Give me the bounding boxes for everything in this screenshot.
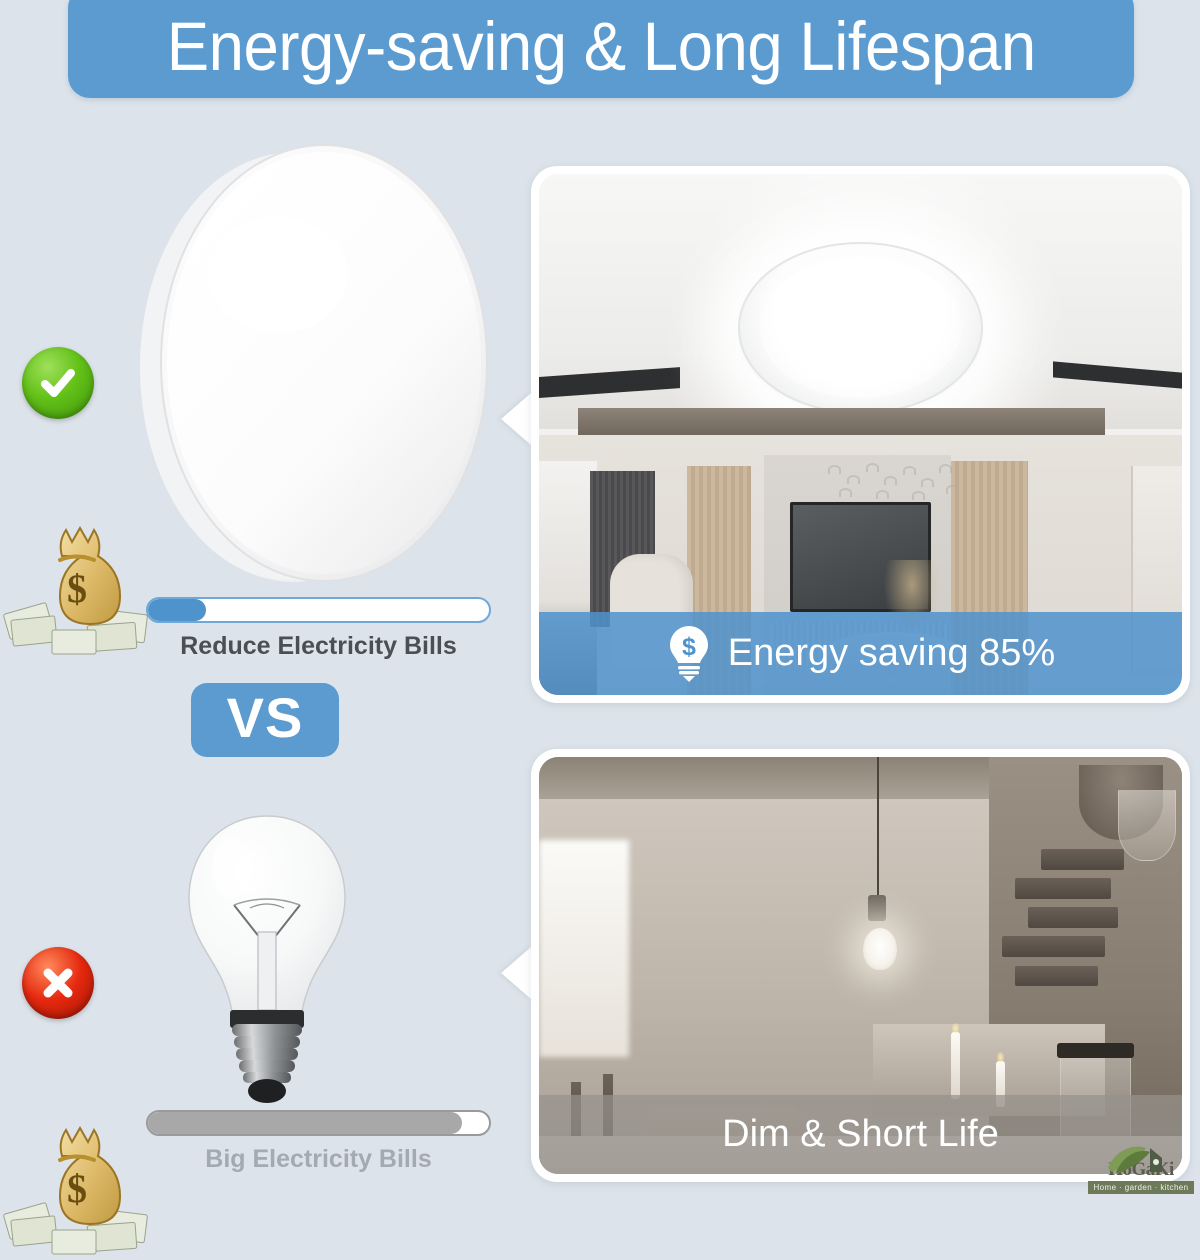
dim-short-life-caption: Dim & Short Life bbox=[722, 1113, 999, 1156]
svg-text:$: $ bbox=[67, 566, 87, 611]
energy-saving-caption: Energy saving 85% bbox=[728, 632, 1055, 675]
header-banner: Energy-saving & Long Lifespan bbox=[68, 0, 1134, 98]
page-title: Energy-saving & Long Lifespan bbox=[167, 0, 1036, 86]
led-light-in-room bbox=[738, 242, 982, 414]
vs-badge: VS bbox=[191, 683, 339, 757]
bulb-dollar-icon: $ bbox=[666, 624, 712, 682]
comparison-left-column: $ $ bbox=[0, 110, 520, 1200]
meter-fill bbox=[148, 1112, 462, 1134]
meter-track bbox=[146, 1110, 491, 1136]
meter-track bbox=[146, 597, 491, 623]
led-ceiling-light bbox=[128, 135, 500, 595]
meter-label: Reduce Electricity Bills bbox=[146, 632, 491, 661]
leaf-house-icon bbox=[1106, 1142, 1164, 1176]
photo-card-energy-saving: $ Energy saving 85% bbox=[531, 166, 1190, 703]
photo-card-dim-short-life: Dim & Short Life bbox=[531, 749, 1190, 1182]
incandescent-bulb bbox=[172, 810, 362, 1115]
callout-pointer bbox=[501, 393, 531, 445]
money-bag-icon: $ bbox=[2, 1120, 152, 1255]
reduce-bills-meter: Reduce Electricity Bills bbox=[146, 597, 491, 661]
big-bills-meter: Big Electricity Bills bbox=[146, 1110, 491, 1174]
svg-text:$: $ bbox=[67, 1166, 87, 1211]
dim-short-life-caption-band: Dim & Short Life bbox=[539, 1095, 1182, 1174]
svg-text:$: $ bbox=[682, 633, 696, 661]
callout-pointer bbox=[501, 947, 531, 999]
vs-label: VS bbox=[227, 690, 304, 750]
brand-tagline: Home · garden · kitchen bbox=[1088, 1181, 1194, 1194]
meter-fill bbox=[148, 599, 206, 621]
hanging-incandescent-bulb bbox=[863, 928, 897, 970]
brand-watermark: HoGaKi Home · garden · kitchen bbox=[1088, 1160, 1194, 1194]
meter-label: Big Electricity Bills bbox=[146, 1145, 491, 1174]
green-check-icon bbox=[22, 347, 94, 419]
red-x-icon bbox=[22, 947, 94, 1019]
energy-saving-caption-band: $ Energy saving 85% bbox=[539, 612, 1182, 695]
dim-room-photo: Dim & Short Life bbox=[539, 757, 1182, 1174]
wall-art-birds bbox=[822, 461, 963, 508]
bright-living-room-photo: $ Energy saving 85% bbox=[539, 174, 1182, 695]
